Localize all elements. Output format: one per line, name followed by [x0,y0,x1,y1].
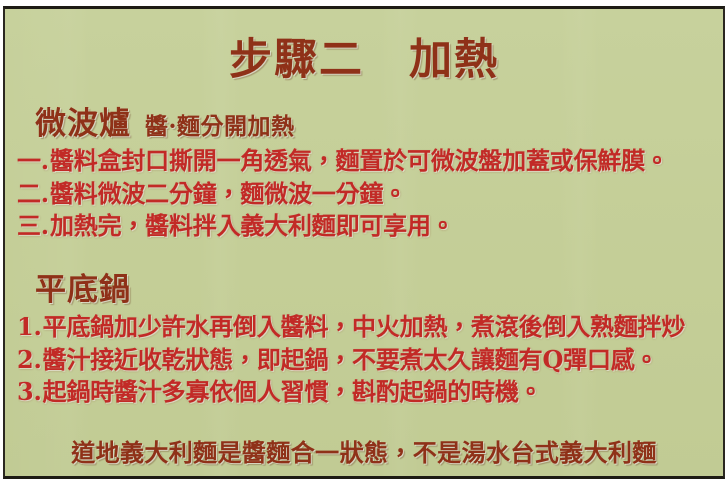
list-item: 三. 加熱完，醬料拌入義大利麵即可享用。 [17,210,717,243]
list-item: 一. 醬料盒封口撕開一角透氣，麵置於可微波盤加蓋或保鮮膜。 [17,145,717,178]
step-text: 醬料盒封口撕開一角透氣，麵置於可微波盤加蓋或保鮮膜。 [50,145,669,178]
step-text: 加熱完，醬料拌入義大利麵即可享用。 [50,210,455,243]
section-microwave-title: 微波爐 [35,105,131,143]
step-marker: 1. [17,311,42,344]
step-marker: 2. [17,344,42,377]
poster-frame: 步驟二 加熱 微波爐 醬·麵分開加熱 一. 醬料盒封口撕開一角透氣，麵置於可微波… [3,6,725,479]
poster-background: 步驟二 加熱 微波爐 醬·麵分開加熱 一. 醬料盒封口撕開一角透氣，麵置於可微波… [5,9,723,476]
list-item: 2. 醬汁接近收乾狀態，即起鍋，不要煮太久讓麵有Q彈口感。 [17,344,717,377]
section-pan-header: 平底鍋 [5,271,723,311]
section-pan-title: 平底鍋 [35,271,131,309]
list-item: 二. 醬料微波二分鐘，麵微波一分鐘。 [17,178,717,211]
step-text: 起鍋時醬汁多寡依個人習慣，斟酌起鍋的時機。 [43,376,543,409]
step-marker: 三. [17,210,49,243]
step-marker: 二. [17,178,49,211]
step-marker: 3. [17,376,42,409]
step-text: 醬汁接近收乾狀態，即起鍋，不要煮太久讓麵有Q彈口感。 [43,344,659,377]
section-microwave-steps: 一. 醬料盒封口撕開一角透氣，麵置於可微波盤加蓋或保鮮膜。 二. 醬料微波二分鐘… [5,145,723,243]
section-pan: 平底鍋 1. 平底鍋加少許水再倒入醬料，中火加熱，煮滾後倒入熟麵拌炒 2. 醬汁… [5,271,723,409]
section-pan-steps: 1. 平底鍋加少許水再倒入醬料，中火加熱，煮滾後倒入熟麵拌炒 2. 醬汁接近收乾… [5,311,723,409]
section-microwave-header: 微波爐 醬·麵分開加熱 [5,105,723,145]
list-item: 1. 平底鍋加少許水再倒入醬料，中火加熱，煮滾後倒入熟麵拌炒 [17,311,717,344]
step-text: 醬料微波二分鐘，麵微波一分鐘。 [50,178,407,211]
list-item: 3. 起鍋時醬汁多寡依個人習慣，斟酌起鍋的時機。 [17,376,717,409]
step-marker: 一. [17,145,49,178]
footer-note: 道地義大利麵是醬麵合一狀態，不是湯水台式義大利麵 [5,437,723,469]
page-title: 步驟二 加熱 [5,35,723,85]
section-microwave-note: 醬·麵分開加熱 [145,110,295,144]
section-microwave: 微波爐 醬·麵分開加熱 一. 醬料盒封口撕開一角透氣，麵置於可微波盤加蓋或保鮮膜… [5,105,723,243]
step-text: 平底鍋加少許水再倒入醬料，中火加熱，煮滾後倒入熟麵拌炒 [43,311,686,344]
